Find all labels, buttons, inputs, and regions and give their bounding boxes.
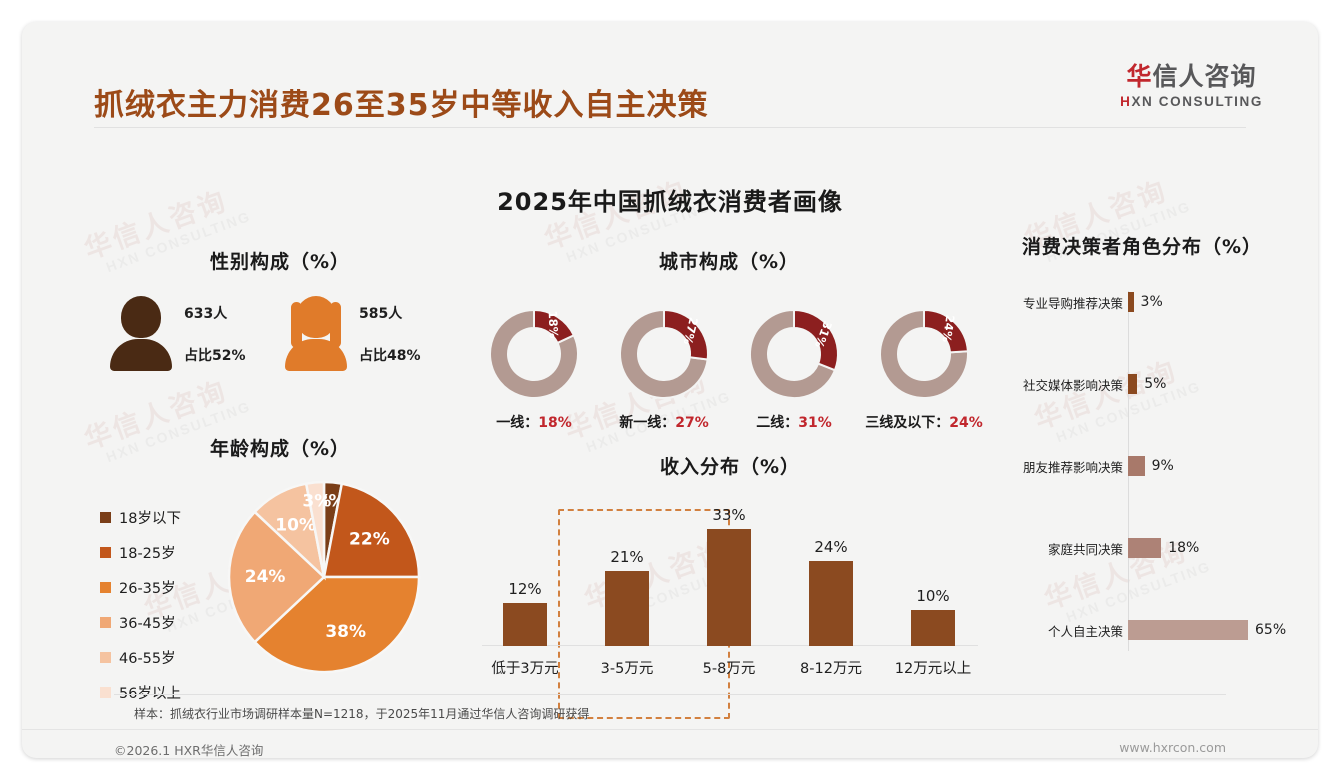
page-title: 抓绒衣主力消费26至35岁中等收入自主决策 [94, 80, 709, 124]
pie-slice-label: 38% [325, 622, 366, 642]
donut-caption-label: 新一线： [619, 415, 675, 431]
legend-swatch [100, 652, 111, 663]
legend-label: 46-55岁 [119, 647, 176, 668]
income-bar [605, 571, 649, 646]
sample-note: 样本：抓绒衣行业市场调研样本量N=1218，于2025年11月通过华信人咨询调研… [134, 705, 589, 722]
income-title: 收入分布（%） [474, 452, 986, 479]
income-bar-column: 12% [474, 580, 576, 646]
role-value: 5% [1144, 376, 1166, 392]
role-label: 家庭共同决策 [997, 539, 1123, 558]
donut-caption-label: 二线： [756, 415, 798, 431]
income-bar [911, 610, 955, 646]
donut-percent-label: 18% [546, 310, 561, 339]
slide-header: 抓绒衣主力消费26至35岁中等收入自主决策 华信人咨询 HXN CONSULTI… [22, 22, 1318, 122]
role-label: 社交媒体影响决策 [997, 375, 1123, 394]
legend-label: 36-45岁 [119, 612, 176, 633]
logo-char-h: H [1120, 94, 1131, 109]
legend-label: 18-25岁 [119, 542, 176, 563]
logo-text-cn: 信人咨询 [1153, 62, 1257, 91]
role-row: 个人自主决策65% [997, 619, 1287, 641]
donut-caption-value: 24% [949, 415, 983, 431]
pie-slice-label: 22% [349, 529, 390, 549]
role-bar [1128, 538, 1161, 558]
income-bar-value: 10% [916, 587, 949, 605]
income-category-label: 3-5万元 [576, 657, 678, 678]
roles-title: 消费决策者角色分布（%） [997, 232, 1287, 259]
gender-title: 性别构成（%） [100, 247, 460, 274]
income-bar [809, 561, 853, 646]
company-logo: 华信人咨询 HXN CONSULTING [1120, 64, 1263, 109]
donut-caption: 一线：18% [474, 412, 594, 432]
age-pie-chart: 3%22%38%24%10%3% [224, 477, 424, 677]
role-bar [1128, 374, 1137, 394]
city-donut: 18%一线：18% [474, 298, 594, 432]
logo-text-en: XN CONSULTING [1131, 94, 1263, 109]
header-divider [94, 127, 1246, 128]
chart-subtitle: 2025年中国抓绒衣消费者画像 [22, 182, 1318, 217]
role-value: 65% [1255, 622, 1286, 638]
income-bar-value: 21% [610, 548, 643, 566]
role-row: 朋友推荐影响决策9% [997, 455, 1287, 477]
role-value: 3% [1141, 294, 1163, 310]
pie-slice-label: 24% [245, 567, 286, 587]
pie-slice-label: 3% [302, 491, 331, 511]
income-bar-value: 33% [712, 506, 745, 524]
role-row: 家庭共同决策18% [997, 537, 1287, 559]
legend-swatch [100, 687, 111, 698]
income-category-label: 12万元以上 [882, 657, 984, 678]
male-count: 633人 [184, 303, 246, 323]
female-silhouette-icon [285, 296, 347, 371]
legend-item: 46-55岁 [100, 647, 218, 668]
role-label: 个人自主决策 [997, 621, 1123, 640]
age-legend: 18岁以下 18-25岁 26-35岁 36-45岁 46-55岁 56岁以上 [100, 477, 218, 717]
male-share: 占比52% [184, 345, 246, 365]
pie-slice-label: 10% [275, 515, 316, 535]
gender-female: 585人 占比48% [285, 296, 460, 371]
legend-item: 36-45岁 [100, 612, 218, 633]
age-title: 年龄构成（%） [100, 434, 460, 461]
legend-label: 26-35岁 [119, 577, 176, 598]
role-row: 社交媒体影响决策5% [997, 373, 1287, 395]
income-panel: 收入分布（%） 12%21%33%24%10% 低于3万元3-5万元5-8万元8… [474, 452, 986, 686]
role-bar [1128, 456, 1145, 476]
logo-char-hua: 华 [1127, 62, 1153, 91]
income-bar-column: 33% [678, 506, 780, 646]
income-category-label: 低于3万元 [474, 657, 576, 678]
note-divider [114, 694, 1226, 695]
role-label: 专业导购推荐决策 [997, 293, 1123, 312]
role-value: 18% [1168, 540, 1199, 556]
legend-item: 56岁以上 [100, 682, 218, 703]
legend-label: 56岁以上 [119, 682, 181, 703]
income-bar [503, 603, 547, 646]
income-bar-column: 21% [576, 548, 678, 646]
roles-panel: 消费决策者角色分布（%） 专业导购推荐决策3%社交媒体影响决策5%朋友推荐影响决… [997, 232, 1287, 651]
role-bar [1128, 620, 1248, 640]
income-bar-column: 24% [780, 538, 882, 646]
role-row: 专业导购推荐决策3% [997, 291, 1287, 313]
donut-caption: 二线：31% [734, 412, 854, 432]
income-bar-value: 12% [508, 580, 541, 598]
role-bar [1128, 292, 1134, 312]
income-bar [707, 529, 751, 646]
legend-swatch [100, 512, 111, 523]
gender-panel: 性别构成（%） 633人 占比52% [100, 247, 460, 371]
footer-divider [22, 729, 1318, 730]
role-value: 9% [1152, 458, 1174, 474]
city-donut-row: 18%一线：18%27%新一线：27%31%二线：31%24%三线及以下：24% [474, 298, 984, 432]
city-title: 城市构成（%） [474, 247, 984, 274]
legend-item: 18-25岁 [100, 542, 218, 563]
donut-caption-value: 31% [798, 415, 832, 431]
donut-caption-label: 一线： [496, 415, 538, 431]
legend-item: 26-35岁 [100, 577, 218, 598]
website-link[interactable]: www.hxrcon.com [1119, 740, 1226, 755]
income-bars: 12%21%33%24%10% [474, 496, 986, 646]
female-share: 占比48% [359, 345, 421, 365]
city-donut: 24%三线及以下：24% [864, 298, 984, 432]
donut-caption: 三线及以下：24% [864, 412, 984, 432]
income-category-label: 8-12万元 [780, 657, 882, 678]
legend-swatch [100, 547, 111, 558]
gender-male: 633人 占比52% [110, 296, 285, 371]
donut-caption: 新一线：27% [604, 412, 724, 432]
income-bar-value: 24% [814, 538, 847, 556]
legend-swatch [100, 617, 111, 628]
role-label: 朋友推荐影响决策 [997, 457, 1123, 476]
male-silhouette-icon [110, 296, 172, 371]
legend-swatch [100, 582, 111, 593]
age-panel: 年龄构成（%） 18岁以下 18-25岁 26-35岁 36-45岁 46-55… [100, 434, 460, 717]
donut-caption-value: 18% [538, 415, 572, 431]
female-count: 585人 [359, 303, 421, 323]
city-panel: 城市构成（%） 18%一线：18%27%新一线：27%31%二线：31%24%三… [474, 247, 984, 432]
infographic-slide: 华信人咨询 HXN CONSULTING 华信人咨询 HXN CONSULTIN… [22, 22, 1318, 758]
legend-item: 18岁以下 [100, 507, 218, 528]
copyright-text: ©2026.1 HXR华信人咨询 [114, 740, 263, 758]
donut-caption-label: 三线及以下： [865, 415, 949, 431]
income-categories: 低于3万元3-5万元5-8万元8-12万元12万元以上 [474, 657, 986, 678]
income-category-label: 5-8万元 [678, 657, 780, 678]
donut-caption-value: 27% [675, 415, 709, 431]
city-donut: 31%二线：31% [734, 298, 854, 432]
income-bar-column: 10% [882, 587, 984, 646]
legend-label: 18岁以下 [119, 507, 181, 528]
city-donut: 27%新一线：27% [604, 298, 724, 432]
